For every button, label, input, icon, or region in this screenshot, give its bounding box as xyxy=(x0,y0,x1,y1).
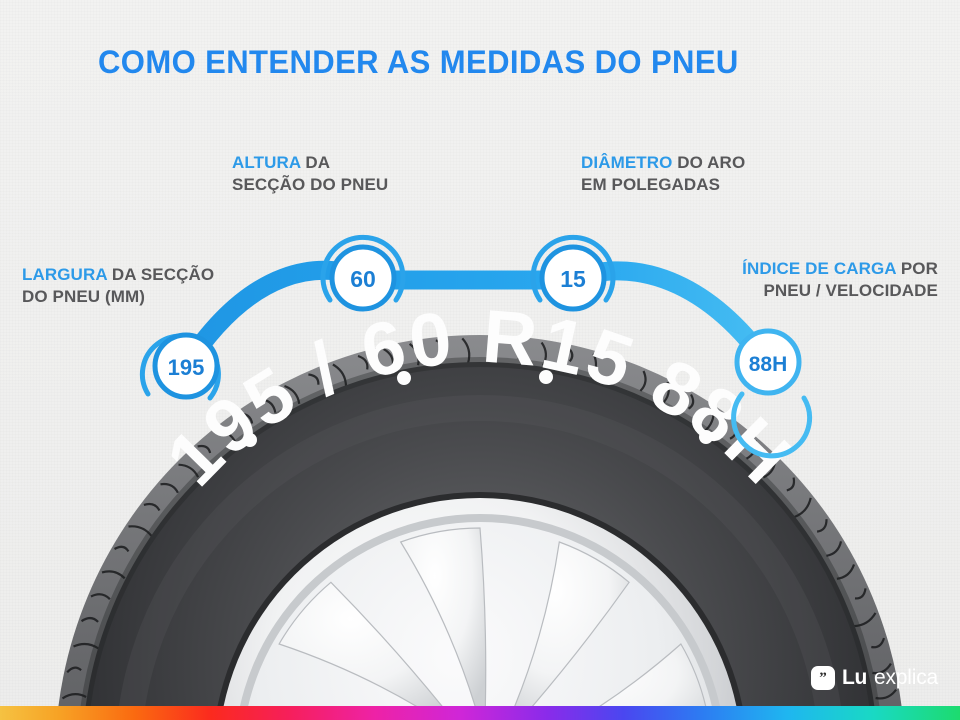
badge-195-label: 195 xyxy=(168,355,205,380)
quote-bubble-icon: ” xyxy=(811,666,835,690)
infographic-canvas: COMO ENTENDER AS MEDIDAS DO PNEU xyxy=(0,0,960,720)
logo-word-explica: explica xyxy=(874,666,938,690)
badge-88h-label: 88H xyxy=(749,353,788,376)
badge-15-label: 15 xyxy=(560,266,586,292)
badge-group: 195 60 15 88H xyxy=(0,0,960,720)
badge-15[interactable]: 15 xyxy=(533,237,613,309)
logo-word-lu: Lu xyxy=(842,666,867,690)
badge-195[interactable]: 195 xyxy=(142,335,218,398)
badge-60-label: 60 xyxy=(350,266,376,292)
badge-88h-outer-ring xyxy=(734,394,810,456)
rainbow-footer-bar xyxy=(0,706,960,720)
badge-60[interactable]: 60 xyxy=(323,237,403,309)
badge-88h[interactable]: 88H xyxy=(734,331,810,456)
brand-logo[interactable]: ” Lu explica xyxy=(811,666,938,690)
